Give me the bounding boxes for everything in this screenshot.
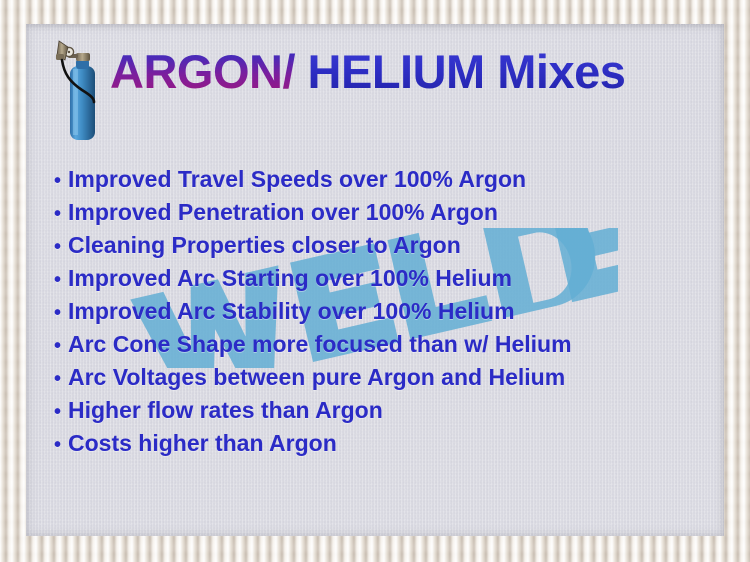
list-item: • Arc Voltages between pure Argon and He… xyxy=(54,364,726,397)
list-item: • Improved Penetration over 100% Argon xyxy=(54,199,726,232)
list-item-label: Improved Arc Stability over 100% Helium xyxy=(68,298,515,325)
list-item-label: Arc Voltages between pure Argon and Heli… xyxy=(68,364,565,391)
list-item: • Arc Cone Shape more focused than w/ He… xyxy=(54,331,726,364)
gas-cylinder-icon xyxy=(48,38,110,144)
list-item-label: Higher flow rates than Argon xyxy=(68,397,383,424)
list-item: • Higher flow rates than Argon xyxy=(54,397,726,430)
list-item: • Cleaning Properties closer to Argon xyxy=(54,232,726,265)
bullet-icon: • xyxy=(54,237,68,257)
list-item: • Improved Arc Starting over 100% Helium xyxy=(54,265,726,298)
page-title: ARGON/ HELIUM Mixes xyxy=(110,48,625,95)
list-item-label: Costs higher than Argon xyxy=(68,430,337,457)
list-item: • Improved Arc Stability over 100% Heliu… xyxy=(54,298,726,331)
bullet-icon: • xyxy=(54,435,68,455)
presentation-slide: ARGON/ HELIUM Mixes • Improved Travel Sp… xyxy=(0,0,750,562)
bullet-icon: • xyxy=(54,303,68,323)
list-item-label: Cleaning Properties closer to Argon xyxy=(68,232,461,259)
bullet-icon: • xyxy=(54,402,68,422)
list-item: • Costs higher than Argon xyxy=(54,430,726,463)
page-title-helium: HELIUM Mixes xyxy=(295,45,625,98)
list-item-label: Improved Penetration over 100% Argon xyxy=(68,199,498,226)
list-item: • Improved Travel Speeds over 100% Argon xyxy=(54,166,726,199)
page-title-argon: ARGON/ xyxy=(110,45,295,98)
bullet-icon: • xyxy=(54,336,68,356)
bullet-list: • Improved Travel Speeds over 100% Argon… xyxy=(54,166,726,463)
slide-content: ARGON/ HELIUM Mixes • Improved Travel Sp… xyxy=(0,0,750,562)
bullet-icon: • xyxy=(54,171,68,191)
bullet-icon: • xyxy=(54,270,68,290)
bullet-icon: • xyxy=(54,369,68,389)
list-item-label: Arc Cone Shape more focused than w/ Heli… xyxy=(68,331,572,358)
list-item-label: Improved Travel Speeds over 100% Argon xyxy=(68,166,526,193)
list-item-label: Improved Arc Starting over 100% Helium xyxy=(68,265,512,292)
bullet-icon: • xyxy=(54,204,68,224)
